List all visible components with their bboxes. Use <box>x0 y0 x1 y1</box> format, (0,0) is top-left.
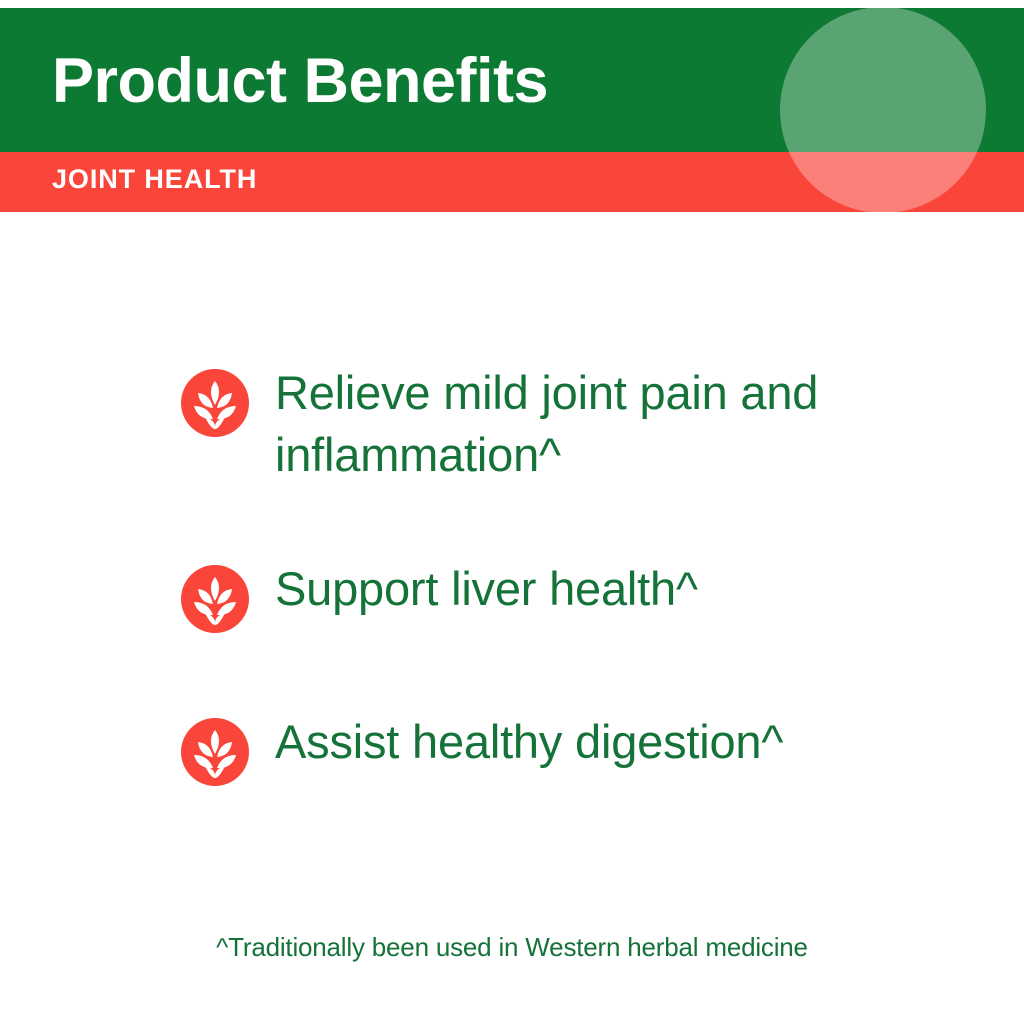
benefit-text: Support liver health^ <box>275 558 698 620</box>
benefit-text: Assist healthy digestion^ <box>275 711 783 773</box>
leaf-sprout-icon <box>181 718 249 786</box>
list-item: Assist healthy digestion^ <box>181 711 783 786</box>
list-item: Support liver health^ <box>181 558 698 633</box>
page-title: Product Benefits <box>52 50 548 113</box>
footnote-text: ^Traditionally been used in Western herb… <box>0 932 1024 963</box>
benefit-text: Relieve mild joint pain and inflammation… <box>275 362 915 486</box>
icon-circle-backdrop <box>780 8 986 212</box>
header-icon-container <box>779 8 987 212</box>
category-label: JOINT HEALTH <box>52 166 257 193</box>
product-benefits-card: Product Benefits JOINT HEALTH <box>0 0 1024 1024</box>
leaf-sprout-icon <box>181 369 249 437</box>
header: Product Benefits JOINT HEALTH <box>0 8 1024 212</box>
leaf-sprout-icon <box>181 565 249 633</box>
list-item: Relieve mild joint pain and inflammation… <box>181 362 915 486</box>
